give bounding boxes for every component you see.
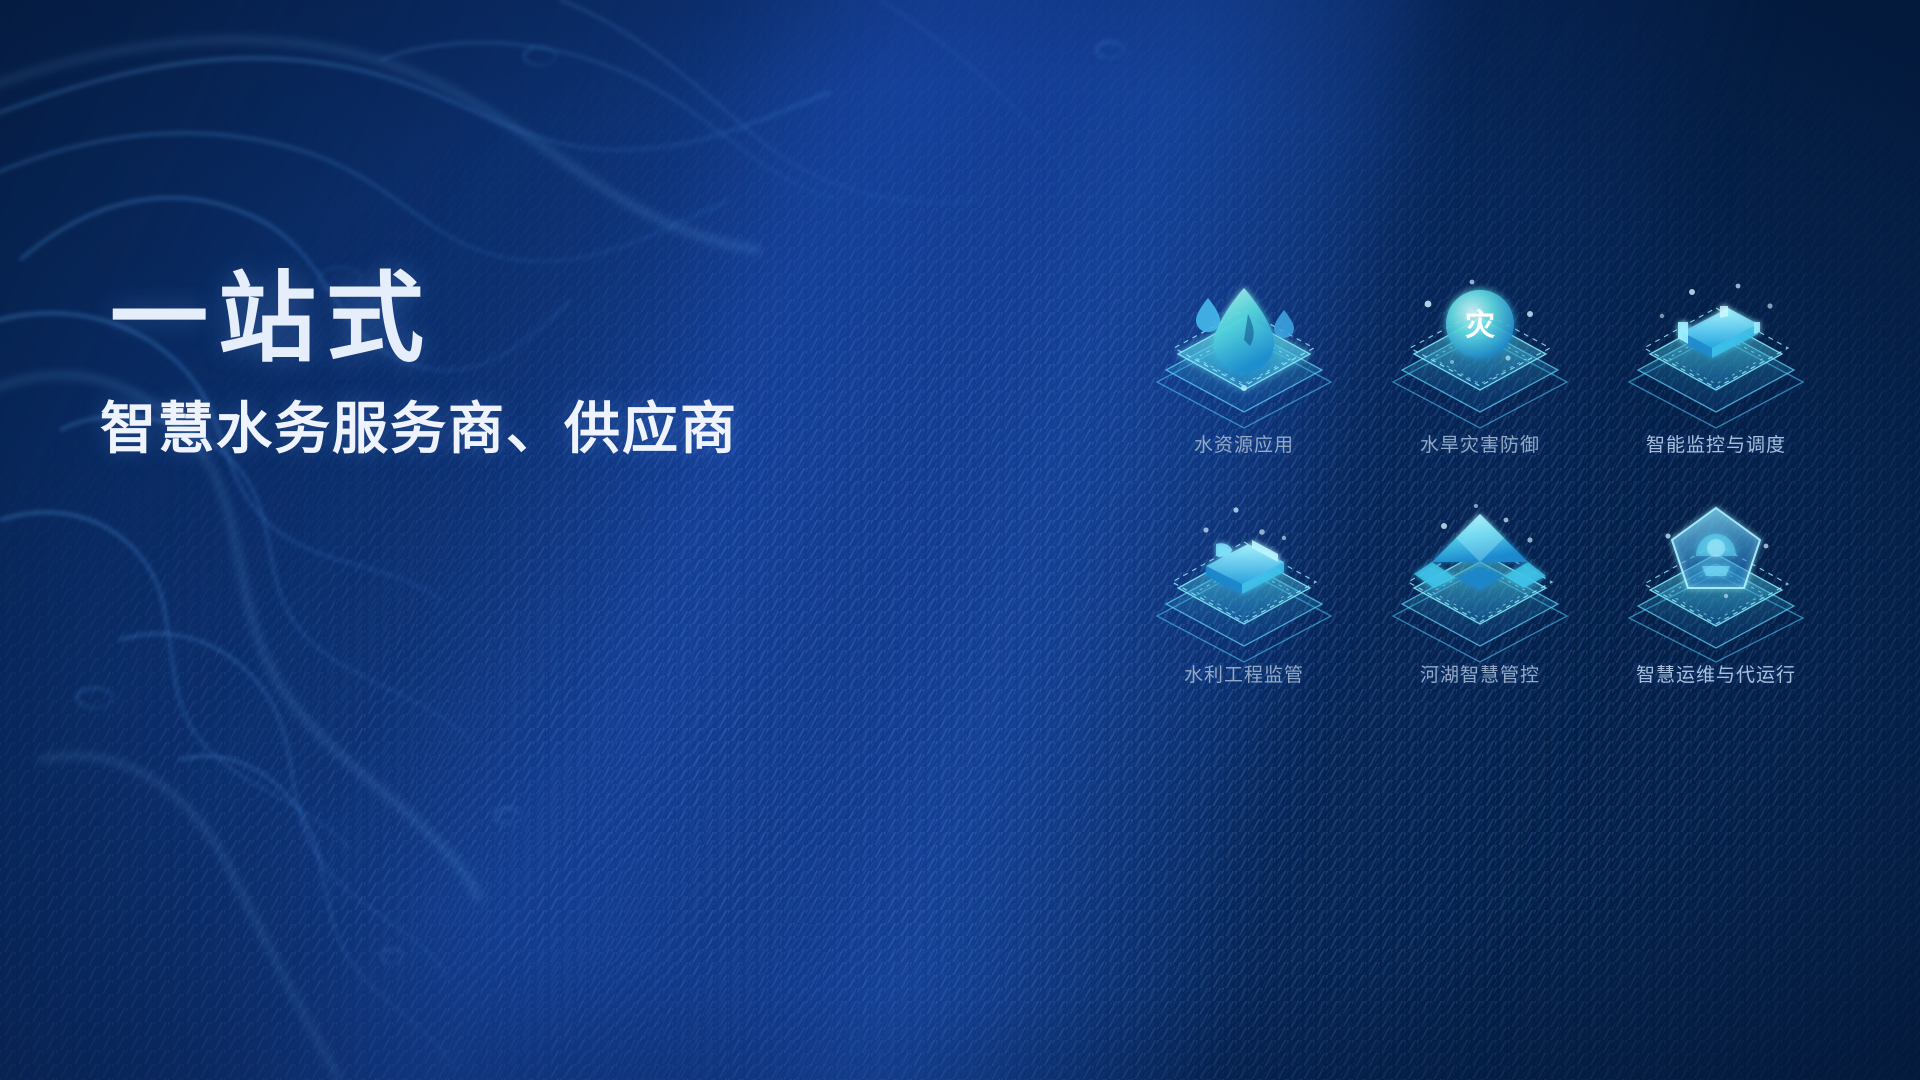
- shield-pentagon-icon: [1616, 500, 1816, 664]
- page-subtitle: 智慧水务服务商、供应商: [100, 396, 930, 462]
- capability-label: 水旱灾害防御: [1420, 430, 1540, 457]
- page-title: 一站式: [110, 268, 930, 370]
- capability-item-water-conservancy-supervision[interactable]: 水利工程监管: [1130, 500, 1358, 722]
- river-mountain-icon: [1380, 500, 1580, 664]
- disaster-glyph: 灾: [1465, 308, 1495, 342]
- capability-label: 水利工程监管: [1184, 660, 1304, 687]
- disaster-sphere-icon: 灾: [1380, 270, 1580, 434]
- capability-item-water-resource[interactable]: 水资源应用: [1130, 270, 1358, 492]
- hero-copy: 一站式 智慧水务服务商、供应商: [100, 268, 930, 462]
- capability-item-river-lake-management[interactable]: 河湖智慧管控: [1366, 500, 1594, 722]
- slide-canvas: 一站式 智慧水务服务商、供应商: [0, 0, 1920, 1080]
- hydro-facility-icon: [1144, 500, 1344, 664]
- capability-label: 河湖智慧管控: [1420, 660, 1540, 687]
- capability-grid: 水资源应用: [1130, 270, 1830, 722]
- capability-label: 智慧运维与代运行: [1636, 660, 1796, 687]
- capability-label: 智能监控与调度: [1646, 430, 1786, 457]
- capability-item-smart-ops-managed-service[interactable]: 智慧运维与代运行: [1602, 500, 1830, 722]
- capability-item-flood-drought-defense[interactable]: 灾 水旱灾害防御: [1366, 270, 1594, 492]
- capability-item-smart-monitoring-dispatch[interactable]: 智能监控与调度: [1602, 270, 1830, 492]
- monitoring-dam-icon: [1616, 270, 1816, 434]
- water-drop-icon: [1144, 270, 1344, 434]
- capability-label: 水资源应用: [1194, 430, 1294, 457]
